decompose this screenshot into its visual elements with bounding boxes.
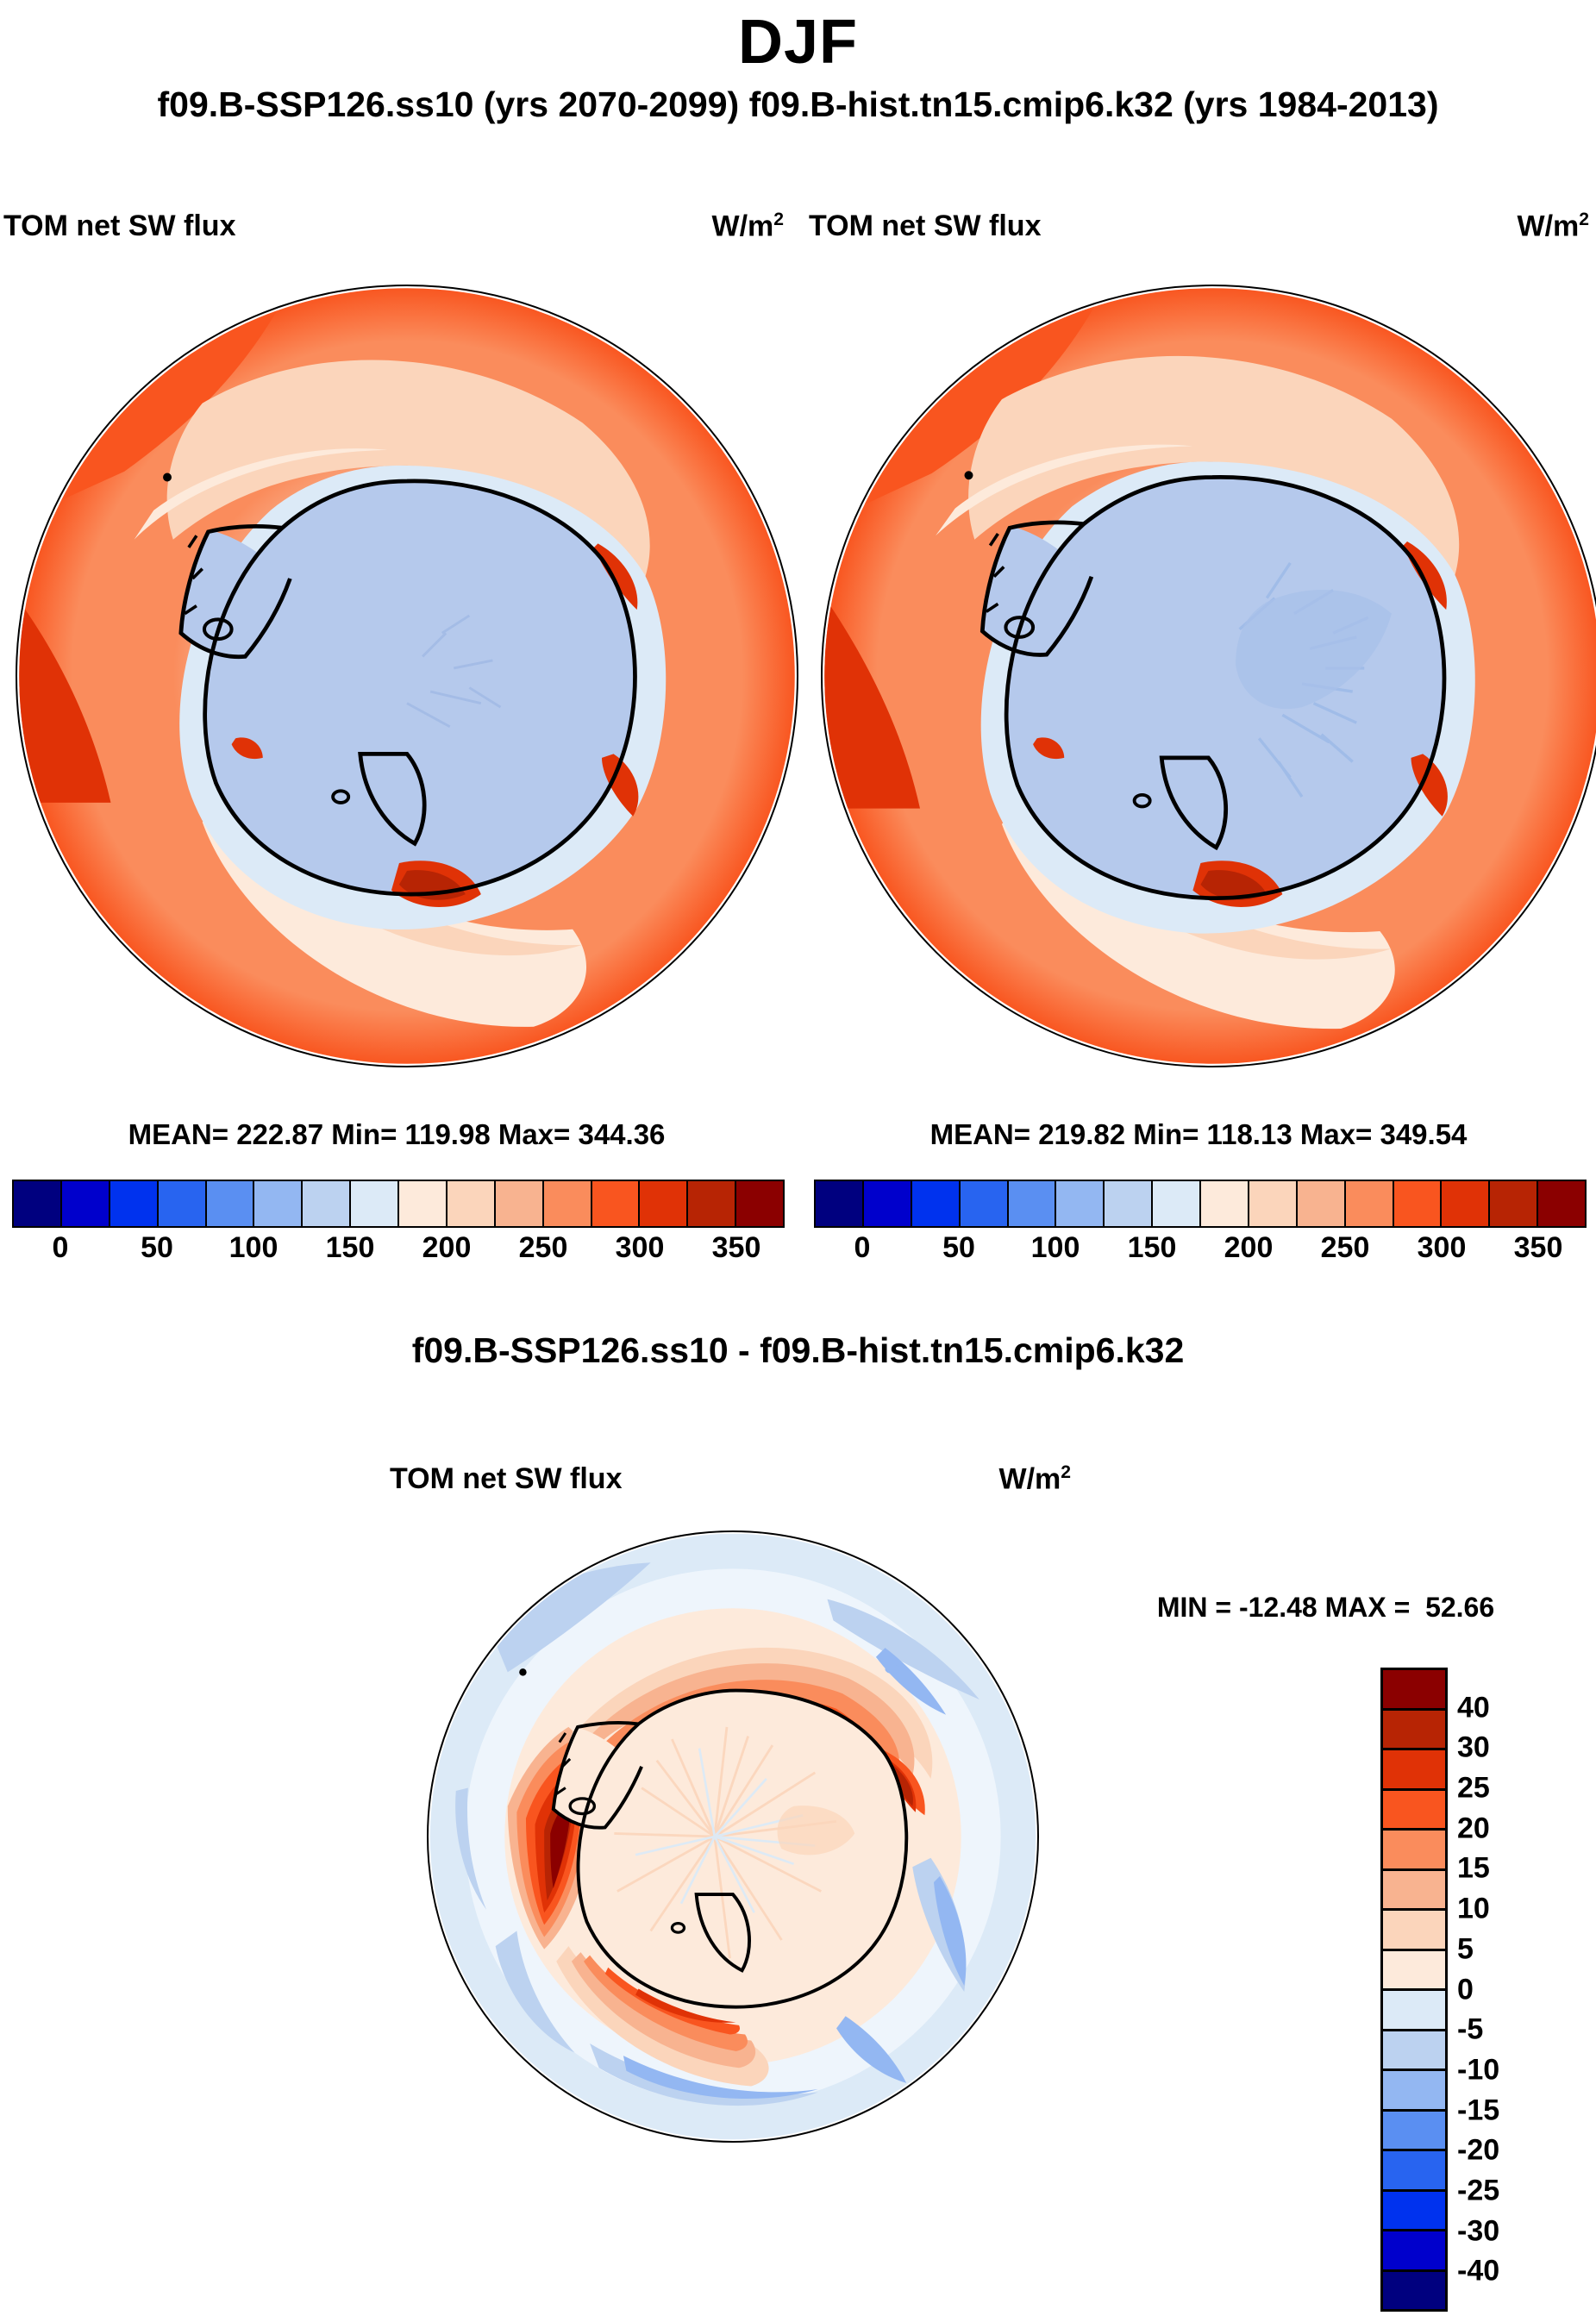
tick-left-0: 0 <box>53 1231 69 1265</box>
panel-header-right: TOM net SW flux W/m2 <box>809 210 1589 243</box>
stats-diff: MIN = -12.48 MAX = 52.66 <box>1061 1592 1591 1624</box>
panel-header-left: TOM net SW flux W/m2 <box>3 210 784 243</box>
page-title: DJF <box>0 7 1596 78</box>
units-label-diff: W/m2 <box>998 1462 1071 1496</box>
tick-diff-30: 30 <box>1457 1731 1490 1765</box>
tick-diff-neg20: -20 <box>1457 2134 1499 2168</box>
tick-left-250: 250 <box>519 1231 568 1265</box>
map-historical <box>821 285 1596 1067</box>
tick-right-0: 0 <box>854 1231 871 1265</box>
stats-left: MEAN= 222.87 Min= 119.98 Max= 344.36 <box>0 1118 793 1151</box>
tick-diff-neg10: -10 <box>1457 2053 1499 2087</box>
tick-right-200: 200 <box>1224 1231 1274 1265</box>
tick-left-150: 150 <box>326 1231 375 1265</box>
tick-right-50: 50 <box>942 1231 975 1265</box>
tick-diff-neg40: -40 <box>1457 2255 1499 2288</box>
tick-diff-neg25: -25 <box>1457 2174 1499 2207</box>
tick-left-200: 200 <box>422 1231 472 1265</box>
tick-diff-neg5: -5 <box>1457 2013 1483 2047</box>
tick-diff-15: 15 <box>1457 1852 1490 1886</box>
variable-label-left: TOM net SW flux <box>3 210 235 243</box>
colorbar-right-cells <box>814 1180 1587 1228</box>
variable-label-diff: TOM net SW flux <box>390 1462 622 1496</box>
tick-left-350: 350 <box>712 1231 761 1265</box>
tick-diff-5: 5 <box>1457 1932 1474 1966</box>
tick-diff-20: 20 <box>1457 1812 1490 1845</box>
tick-left-50: 50 <box>141 1231 173 1265</box>
colorbar-right-ticks: 0 50 100 150 200 250 300 350 <box>814 1231 1587 1271</box>
tick-right-250: 250 <box>1321 1231 1370 1265</box>
panel-header-diff: TOM net SW flux W/m2 <box>390 1462 1071 1496</box>
units-label-left: W/m2 <box>711 210 784 243</box>
tick-diff-neg15: -15 <box>1457 2094 1499 2127</box>
colorbar-left-ticks: 0 50 100 150 200 250 300 350 <box>12 1231 785 1271</box>
tick-right-350: 350 <box>1514 1231 1563 1265</box>
tick-right-300: 300 <box>1418 1231 1467 1265</box>
page-subtitle: f09.B-SSP126.ss10 (yrs 2070-2099) f09.B-… <box>0 84 1596 125</box>
colorbar-right: 0 50 100 150 200 250 300 350 <box>814 1180 1587 1228</box>
units-label-right: W/m2 <box>1517 210 1589 243</box>
tick-diff-10: 10 <box>1457 1893 1490 1926</box>
tick-diff-neg30: -30 <box>1457 2214 1499 2248</box>
tick-left-300: 300 <box>616 1231 665 1265</box>
map-ssp126 <box>16 285 798 1067</box>
stats-right: MEAN= 219.82 Min= 118.13 Max= 349.54 <box>802 1118 1595 1151</box>
colorbar-left-cells <box>12 1180 785 1228</box>
colorbar-left: 0 50 100 150 200 250 300 350 <box>12 1180 785 1228</box>
tick-diff-0: 0 <box>1457 1973 1474 2006</box>
colorbar-difference-ticks: 40 30 25 20 15 10 5 0 -5 -10 -15 -20 -25… <box>1457 1668 1587 2312</box>
tick-diff-40: 40 <box>1457 1691 1490 1724</box>
tick-left-100: 100 <box>229 1231 279 1265</box>
difference-title: f09.B-SSP126.ss10 - f09.B-hist.tn15.cmip… <box>0 1330 1596 1371</box>
variable-label-right: TOM net SW flux <box>809 210 1041 243</box>
map-difference <box>427 1530 1039 2143</box>
tick-diff-25: 25 <box>1457 1772 1490 1806</box>
tick-right-150: 150 <box>1128 1231 1177 1265</box>
tick-right-100: 100 <box>1031 1231 1080 1265</box>
colorbar-difference <box>1380 1668 1448 2312</box>
